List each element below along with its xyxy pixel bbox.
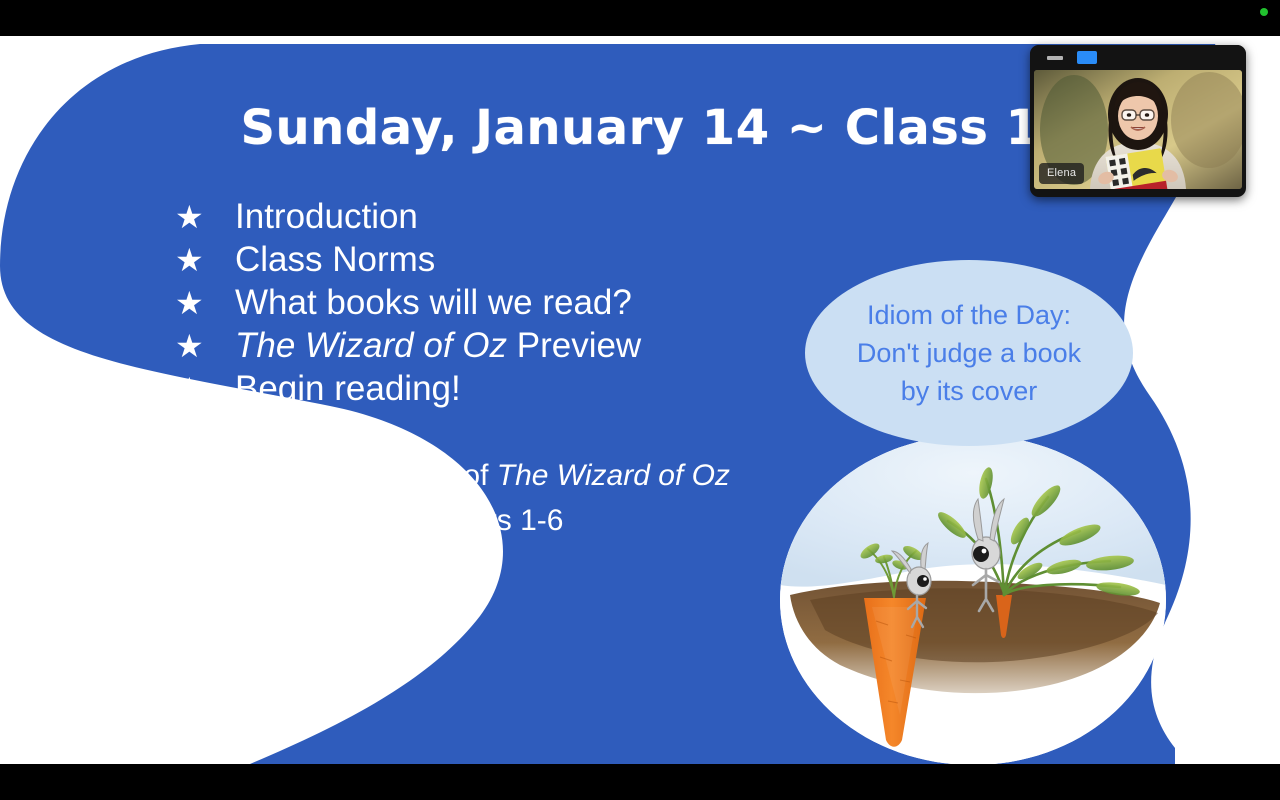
video-window-titlebar[interactable] (1030, 45, 1246, 70)
book-title-italic: The Wizard of Oz (497, 459, 730, 492)
circle-bullet-icon: ○ (265, 458, 310, 500)
maximize-icon[interactable] (1077, 51, 1097, 64)
star-icon: ★ (175, 411, 235, 453)
camera-active-indicator (1260, 8, 1268, 16)
idiom-of-the-day-bubble: Idiom of the Day: Don't judge a book by … (805, 260, 1133, 446)
agenda-item-homework: ★ HW: (175, 411, 895, 453)
agenda-item-label: Introduction (235, 196, 418, 238)
list-item-prefix: Get a copy of (310, 459, 497, 492)
carrot-rabbits-illustration (780, 435, 1166, 764)
agenda-item-label: Class Norms (235, 239, 435, 281)
homework-sub-list: ○ Get a copy of The Wizard of Oz ○ Read … (175, 455, 895, 545)
star-icon: ★ (175, 368, 235, 410)
agenda-item-label: HW: (235, 411, 302, 453)
video-call-window[interactable]: Elena (1030, 45, 1246, 197)
minimize-icon[interactable] (1047, 56, 1063, 60)
illustration-artwork (780, 435, 1166, 764)
webcam-feed[interactable]: Elena (1034, 70, 1242, 189)
screen: Sunday, January 14 ~ Class 1 ★ Introduct… (0, 0, 1280, 800)
agenda-item-label: The Wizard of Oz Preview (235, 325, 641, 367)
star-icon: ★ (175, 239, 235, 281)
list-item-label: Read Chapters 1-6 (310, 500, 563, 542)
agenda-item: ★ Introduction (175, 196, 895, 238)
idiom-text: Idiom of the Day: Don't judge a book by … (843, 296, 1095, 410)
book-title-italic: The Wizard of Oz (235, 326, 507, 365)
participant-name-label: Elena (1039, 163, 1084, 184)
star-icon: ★ (175, 325, 235, 367)
agenda-item: ★ The Wizard of Oz Preview (175, 325, 895, 367)
agenda-item-label: Begin reading! (235, 368, 461, 410)
agenda-item: ★ Class Norms (175, 239, 895, 281)
agenda-item: ★ What books will we read? (175, 282, 895, 324)
list-item: ○ Get a copy of The Wizard of Oz (175, 455, 895, 500)
star-icon: ★ (175, 282, 235, 324)
list-item-label: Get a copy of The Wizard of Oz (310, 455, 730, 497)
agenda-item: ★ Begin reading! (175, 368, 895, 410)
agenda-item-label: What books will we read? (235, 282, 632, 324)
agenda-list: ★ Introduction ★ Class Norms ★ What book… (175, 196, 895, 545)
list-item: ○ Read Chapters 1-6 (175, 500, 895, 545)
agenda-item-suffix: Preview (507, 326, 641, 365)
letterbox-bar-bottom (0, 764, 1280, 800)
letterbox-bar-top (0, 0, 1280, 36)
star-icon: ★ (175, 196, 235, 238)
circle-bullet-icon: ○ (265, 503, 310, 545)
